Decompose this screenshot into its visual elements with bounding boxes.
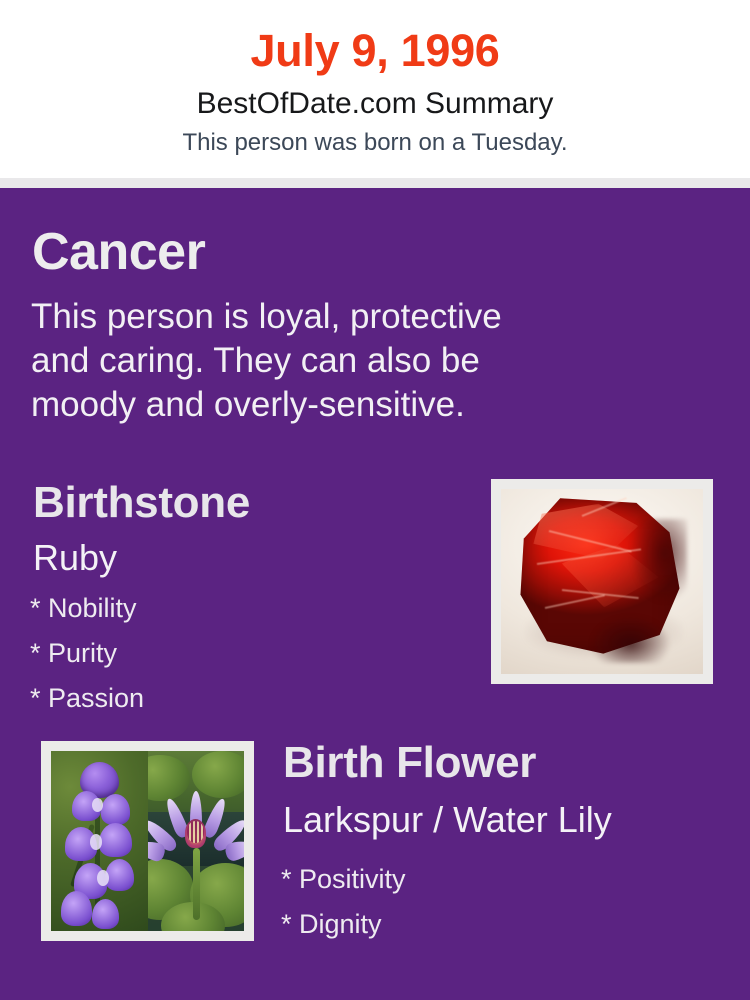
larkspur-center xyxy=(92,798,104,812)
header: July 9, 1996 BestOfDate.com Summary This… xyxy=(0,0,750,178)
birthstone-trait: * Passion xyxy=(30,676,144,721)
header-divider xyxy=(0,178,750,188)
larkspur-petal xyxy=(61,891,92,925)
birthstone-trait: * Nobility xyxy=(30,586,144,631)
larkspur-image xyxy=(51,751,148,931)
larkspur-petal xyxy=(101,794,130,825)
larkspur-center xyxy=(90,834,103,850)
lily-pad xyxy=(192,751,244,798)
birthstone-heading: Birthstone xyxy=(33,477,250,529)
birth-flower-photo-frame xyxy=(41,741,254,941)
birth-flower-trait: * Positivity xyxy=(281,857,406,902)
water-lily-stem xyxy=(193,848,200,920)
birth-flower-heading: Birth Flower xyxy=(283,737,536,789)
birth-flower-name: Larkspur / Water Lily xyxy=(283,798,612,841)
born-weekday-note: This person was born on a Tuesday. xyxy=(0,128,750,158)
larkspur-petal xyxy=(105,859,134,891)
zodiac-description-line: This person is loyal, protective xyxy=(31,295,671,339)
zodiac-sign-name: Cancer xyxy=(32,221,205,283)
larkspur-petal xyxy=(99,823,132,857)
zodiac-description-line: and caring. They can also be xyxy=(31,339,671,383)
birthstone-name: Ruby xyxy=(33,536,117,579)
birthday-summary-card: July 9, 1996 BestOfDate.com Summary This… xyxy=(0,0,750,1000)
water-lily-image xyxy=(148,751,245,931)
birthstone-photo xyxy=(501,489,703,674)
zodiac-description: This person is loyal, protective and car… xyxy=(31,295,671,427)
ruby-dark-region xyxy=(590,615,671,663)
birthstone-photo-frame xyxy=(491,479,713,684)
page-title-date: July 9, 1996 xyxy=(0,24,750,78)
ruby-gem-image xyxy=(501,489,703,674)
flower-image-pair xyxy=(51,751,244,931)
zodiac-description-line: moody and overly-sensitive. xyxy=(31,383,671,427)
larkspur-center xyxy=(97,870,109,886)
site-summary-label: BestOfDate.com Summary xyxy=(0,86,750,122)
larkspur-petal xyxy=(92,899,119,930)
birthstone-trait: * Purity xyxy=(30,631,144,676)
ruby-dark-region xyxy=(630,519,687,604)
birth-flower-trait-list: * Positivity * Dignity xyxy=(281,857,406,947)
birthstone-trait-list: * Nobility * Purity * Passion xyxy=(30,586,144,721)
birth-flower-trait: * Dignity xyxy=(281,902,406,947)
birth-flower-photo xyxy=(51,751,244,931)
